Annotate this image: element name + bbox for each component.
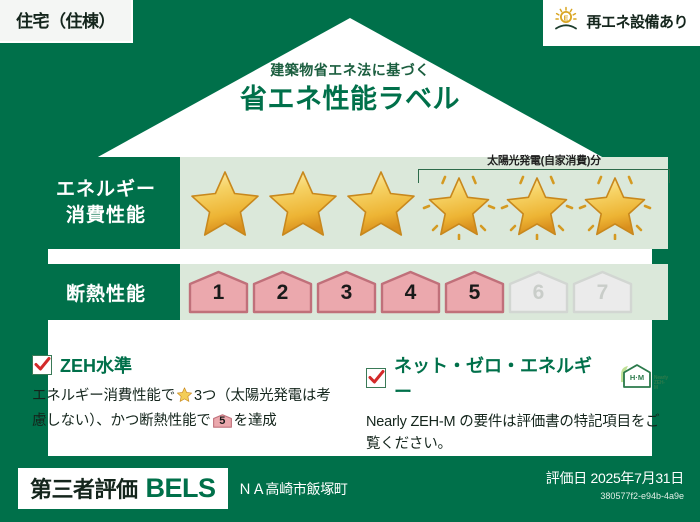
insulation-level-scale: 1 2 3 4	[180, 270, 633, 314]
sun-icon: E	[553, 6, 579, 37]
insulation-level-7-label: 7	[572, 282, 633, 303]
category-tab: 住宅（住棟）	[0, 0, 133, 43]
bels-en-label: BELS	[146, 473, 216, 504]
zeh-logo-caption: Nearly ZEH-M	[654, 376, 668, 395]
insulation-level-5-label: 5	[444, 282, 505, 303]
net-zero-energy-body: Nearly ZEH-M の要件は評価書の特記項目をご覧ください。	[366, 411, 668, 456]
svg-text:E: E	[564, 15, 569, 22]
evaluation-id: 380577f2-e94b-4a9e	[546, 491, 684, 501]
insulation-level-6: 6	[508, 270, 569, 314]
energy-star-3	[342, 166, 420, 240]
footer-bar: 第三者評価 BELS ＮＡ高崎市飯塚町 評価日 2025年7月31日 38057…	[0, 456, 700, 522]
zeh-standard-text-c: を達成	[234, 413, 277, 429]
zeh-logo-caption-line2: ZEH-M	[654, 380, 665, 391]
insulation-performance-key: 断熱性能	[32, 264, 180, 320]
insulation-level-1-label: 1	[188, 282, 249, 303]
evaluation-info: 評価日 2025年7月31日 380577f2-e94b-4a9e	[546, 468, 684, 501]
net-zero-energy-column: ネット・ゼロ・エネルギー H·M Nearly ZEH-M N	[350, 352, 668, 456]
energy-star-1	[186, 166, 264, 240]
zeh-standard-title: ZEH水準	[60, 352, 132, 378]
check-icon	[366, 368, 386, 388]
energy-performance-value: 太陽光発電(自家消費)分	[180, 157, 668, 249]
energy-performance-label: 住宅（住棟） E 再エネ設備あり 建築物省エネ法に基づ	[0, 0, 700, 522]
title-block: 建築物省エネ法に基づく 省エネ性能ラベル	[0, 62, 700, 115]
title-main: 省エネ性能ラベル	[0, 83, 700, 115]
zeh-logo-mark: H·M	[630, 373, 644, 382]
energy-star-6	[576, 166, 654, 240]
zeh-standard-body: エネルギー消費性能で3つ（太陽光発電は考慮しない）、かつ断熱性能で5を達成	[32, 385, 336, 437]
insulation-level-4: 4	[380, 270, 441, 314]
bels-plate: 第三者評価 BELS	[18, 468, 228, 509]
net-zero-energy-heading: ネット・ゼロ・エネルギー H·M Nearly ZEH-M	[366, 352, 668, 404]
zeh-standard-text-a: エネルギー消費性能で	[32, 388, 175, 404]
evaluation-date: 評価日 2025年7月31日	[546, 468, 684, 488]
energy-key-line2: 消費性能	[66, 203, 146, 229]
zeh-info-section: ZEH水準 エネルギー消費性能で3つ（太陽光発電は考慮しない）、かつ断熱性能で5…	[32, 352, 668, 456]
insulation-level-5: 5	[444, 270, 505, 314]
energy-star-4	[420, 166, 498, 240]
energy-star-rating	[180, 166, 654, 240]
insulation-level-6-label: 6	[508, 282, 569, 303]
bels-jp-label: 第三者評価	[30, 472, 138, 504]
insulation-level-7: 7	[572, 270, 633, 314]
renewable-energy-badge: E 再エネ設備あり	[543, 0, 700, 46]
category-tab-label: 住宅（住棟）	[16, 12, 115, 31]
energy-star-5	[498, 166, 576, 240]
net-zero-energy-title: ネット・ゼロ・エネルギー	[394, 352, 604, 404]
energy-key-line1: エネルギー	[56, 177, 156, 203]
insulation-level-3-label: 3	[316, 282, 377, 303]
title-subtitle: 建築物省エネ法に基づく	[0, 62, 700, 79]
energy-performance-key: エネルギー 消費性能	[32, 157, 180, 249]
zeh-standard-heading: ZEH水準	[32, 352, 336, 378]
inline-house-badge: 5	[213, 413, 232, 436]
energy-performance-row: エネルギー 消費性能 太陽光発電(自家消費)分	[32, 157, 668, 249]
energy-star-2	[264, 166, 342, 240]
insulation-performance-row: 断熱性能 1 2	[32, 264, 668, 320]
insulation-level-1: 1	[188, 270, 249, 314]
site-name: ＮＡ高崎市飯塚町	[238, 479, 348, 499]
renewable-badge-label: 再エネ設備あり	[586, 11, 688, 32]
nearly-zeh-m-logo: H·M Nearly ZEH-M	[618, 362, 668, 395]
zeh-standard-column: ZEH水準 エネルギー消費性能で3つ（太陽光発電は考慮しない）、かつ断熱性能で5…	[32, 352, 350, 456]
insulation-level-3: 3	[316, 270, 377, 314]
zeh-house-icon: H·M	[618, 362, 652, 395]
insulation-level-4-label: 4	[380, 282, 441, 303]
insulation-level-2-label: 2	[252, 282, 313, 303]
insulation-performance-value: 1 2 3 4	[180, 264, 668, 320]
inline-star-icon	[176, 386, 193, 410]
insulation-level-2: 2	[252, 270, 313, 314]
inline-house-badge-label: 5	[213, 416, 232, 427]
check-icon	[32, 355, 52, 375]
